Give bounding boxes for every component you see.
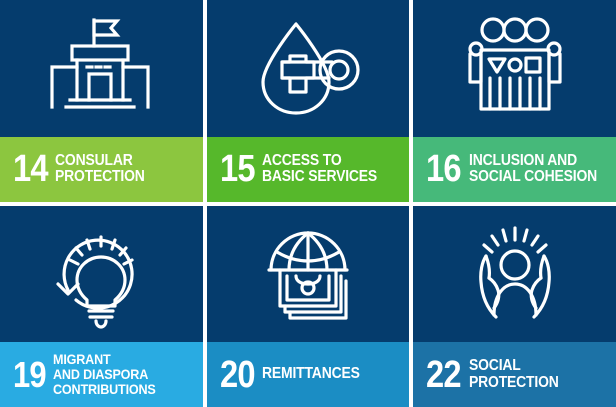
card-19-migrant-and-diaspora-contributions[interactable]: 19 MIGRANT AND DIASPORA CONTRIBUTIONS	[0, 206, 203, 407]
card-22-band: 22 SOCIAL PROTECTION	[413, 342, 616, 407]
card-22-icon-area	[413, 206, 616, 343]
embassy-building-flag-icon	[42, 12, 160, 124]
card-22-label: SOCIAL PROTECTION	[469, 358, 602, 390]
card-15-icon-area	[207, 0, 410, 137]
card-20-remittances[interactable]: 20 REMITTANCES	[207, 206, 410, 407]
card-20-number: 20	[220, 356, 255, 394]
card-14-label: CONSULAR PROTECTION	[55, 153, 188, 185]
card-15-number: 15	[220, 150, 255, 188]
card-20-label: REMITTANCES	[262, 366, 395, 382]
card-16-icon-area	[413, 0, 616, 137]
card-16-label: INCLUSION AND SOCIAL COHESION	[469, 153, 602, 185]
card-22-social-protection[interactable]: 22 SOCIAL PROTECTION	[413, 206, 616, 407]
lightbulb-circular-arrow-icon	[42, 218, 160, 330]
card-16-inclusion-and-social-cohesion[interactable]: 16 INCLUSION AND SOCIAL COHESION	[413, 0, 616, 202]
hands-protecting-person-icon	[456, 218, 574, 330]
card-19-label: MIGRANT AND DIASPORA CONTRIBUTIONS	[53, 352, 188, 396]
card-19-band: 19 MIGRANT AND DIASPORA CONTRIBUTIONS	[0, 342, 203, 407]
card-22-number: 22	[426, 356, 461, 394]
card-16-band: 16 INCLUSION AND SOCIAL COHESION	[413, 137, 616, 202]
card-15-band: 15 ACCESS TO BASIC SERVICES	[207, 137, 410, 202]
card-19-icon-area	[0, 206, 203, 343]
card-14-band: 14 CONSULAR PROTECTION	[0, 137, 203, 202]
card-16-number: 16	[426, 150, 461, 188]
card-14-number: 14	[13, 150, 48, 188]
card-19-number: 19	[13, 357, 46, 393]
card-20-band: 20 REMITTANCES	[207, 342, 410, 407]
card-14-consular-protection[interactable]: 14 CONSULAR PROTECTION	[0, 0, 203, 202]
card-20-icon-area	[207, 206, 410, 343]
card-15-access-to-basic-services[interactable]: 15 ACCESS TO BASIC SERVICES	[207, 0, 410, 202]
icon-card-grid: 14 CONSULAR PROTECTION 15 ACCESS TO BASI…	[0, 0, 616, 407]
card-15-label: ACCESS TO BASIC SERVICES	[262, 153, 395, 185]
three-people-shapes-icon	[456, 12, 574, 124]
water-drop-medical-cross-key-icon	[249, 12, 367, 124]
globe-banknotes-icon	[249, 218, 367, 330]
card-14-icon-area	[0, 0, 203, 137]
